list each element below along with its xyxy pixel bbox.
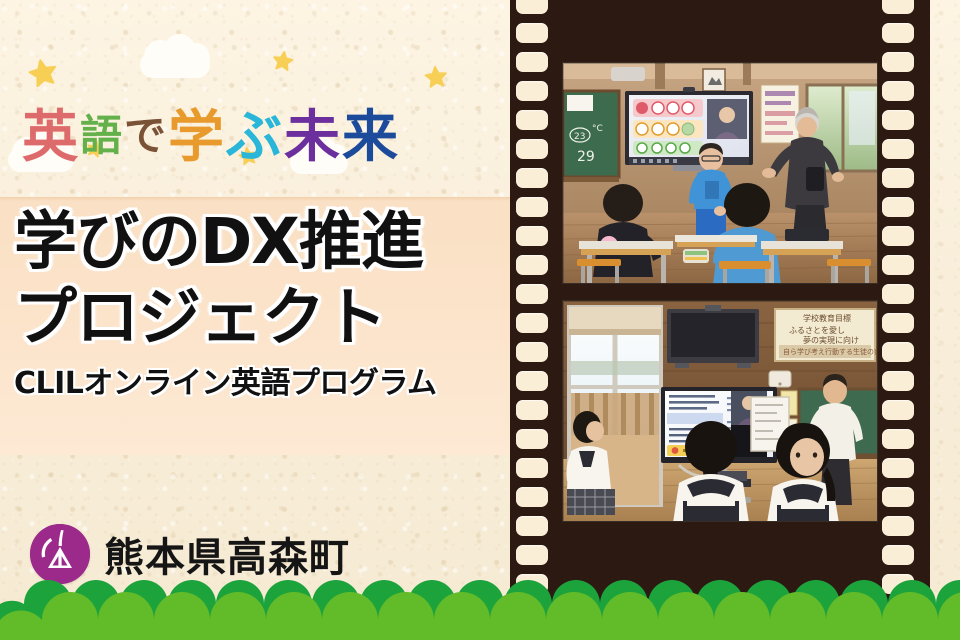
film-perforation xyxy=(516,313,548,333)
film-perforations-left xyxy=(516,0,558,640)
main-title-line-2: プロジェクト xyxy=(14,280,506,356)
film-perforation xyxy=(882,313,914,333)
main-title-block: 学びのDX推進 プロジェクト CLILオンライン英語プログラム xyxy=(14,204,506,402)
film-perforation xyxy=(516,23,548,43)
film-perforation xyxy=(882,516,914,536)
film-perforation xyxy=(516,400,548,420)
film-perforation xyxy=(882,81,914,101)
film-perforation xyxy=(882,23,914,43)
film-perforation xyxy=(516,545,548,565)
film-perforation xyxy=(516,255,548,275)
headline-char-5: 未 xyxy=(284,92,340,173)
film-perforation xyxy=(516,168,548,188)
svg-text:自ら学び考え行動する生徒の育成: 自ら学び考え行動する生徒の育成 xyxy=(783,347,877,356)
film-perforation xyxy=(516,284,548,304)
film-perforation xyxy=(882,197,914,217)
film-strip: 23 °C 29 xyxy=(510,0,930,640)
film-perforation xyxy=(516,487,548,507)
headline-char-6: 来 xyxy=(342,92,398,173)
film-perforations-right xyxy=(882,0,924,640)
headline-char-2: で xyxy=(124,102,166,163)
film-perforation xyxy=(882,400,914,420)
svg-text:°C: °C xyxy=(592,124,603,134)
film-perforation xyxy=(516,371,548,391)
film-perforation xyxy=(882,139,914,159)
film-perforation xyxy=(882,110,914,130)
film-perforation xyxy=(882,545,914,565)
right-margin xyxy=(930,0,960,640)
film-perforation xyxy=(882,226,914,246)
film-perforation xyxy=(516,81,548,101)
svg-text:23: 23 xyxy=(574,132,585,142)
film-perforation xyxy=(882,168,914,188)
poster-stage: 英 語 で 学 ぶ 未 来 学びのDX推進 プロジェクト CLILオンライン英語… xyxy=(0,0,960,640)
star-icon-2 xyxy=(423,64,449,90)
headline-english-future: 英 語 で 学 ぶ 未 来 xyxy=(22,92,492,172)
svg-text:29: 29 xyxy=(577,149,595,165)
headline-char-1: 語 xyxy=(80,102,122,163)
film-perforation xyxy=(516,139,548,159)
photo-juniorhigh-classroom: 学校教育目標 ふるさとを愛し 夢の実現に向け 自ら学び考え行動する生徒の育成 xyxy=(563,301,877,521)
film-perforation xyxy=(882,342,914,362)
headline-char-0: 英 xyxy=(22,92,78,173)
film-perforation xyxy=(516,516,548,536)
film-perforation xyxy=(516,197,548,217)
left-content-panel: 英 語 で 学 ぶ 未 来 学びのDX推進 プロジェクト CLILオンライン英語… xyxy=(0,0,510,640)
film-perforation xyxy=(882,429,914,449)
svg-text:学校教育目標: 学校教育目標 xyxy=(803,313,851,323)
svg-text:夢の実現に向け: 夢の実現に向け xyxy=(803,335,859,345)
star-icon-0 xyxy=(25,55,61,91)
film-perforation xyxy=(882,255,914,275)
film-perforation xyxy=(882,0,914,14)
svg-text:ふるさとを愛し: ふるさとを愛し xyxy=(789,325,845,335)
film-perforation xyxy=(516,52,548,72)
film-perforation xyxy=(516,342,548,362)
film-perforation xyxy=(516,110,548,130)
cloud-icon-0 xyxy=(140,52,210,78)
main-title-line-1: 学びのDX推進 xyxy=(14,204,506,280)
film-perforation xyxy=(516,226,548,246)
film-perforation xyxy=(882,458,914,478)
film-perforation xyxy=(882,52,914,72)
film-perforation xyxy=(516,429,548,449)
main-title-subtitle: CLILオンライン英語プログラム xyxy=(14,366,506,402)
headline-char-4: ぶ xyxy=(226,92,282,173)
star-icon-1 xyxy=(271,49,296,74)
photo-elementary-classroom: 23 °C 29 xyxy=(563,63,877,283)
film-frame-1: 23 °C 29 xyxy=(562,62,878,284)
headline-char-3: 学 xyxy=(168,92,224,173)
film-perforation xyxy=(516,0,548,14)
film-perforation xyxy=(882,371,914,391)
film-perforation xyxy=(516,458,548,478)
grass-decoration xyxy=(0,570,960,640)
film-perforation xyxy=(882,487,914,507)
film-frame-2: 学校教育目標 ふるさとを愛し 夢の実現に向け 自ら学び考え行動する生徒の育成 xyxy=(562,300,878,522)
film-perforation xyxy=(882,284,914,304)
